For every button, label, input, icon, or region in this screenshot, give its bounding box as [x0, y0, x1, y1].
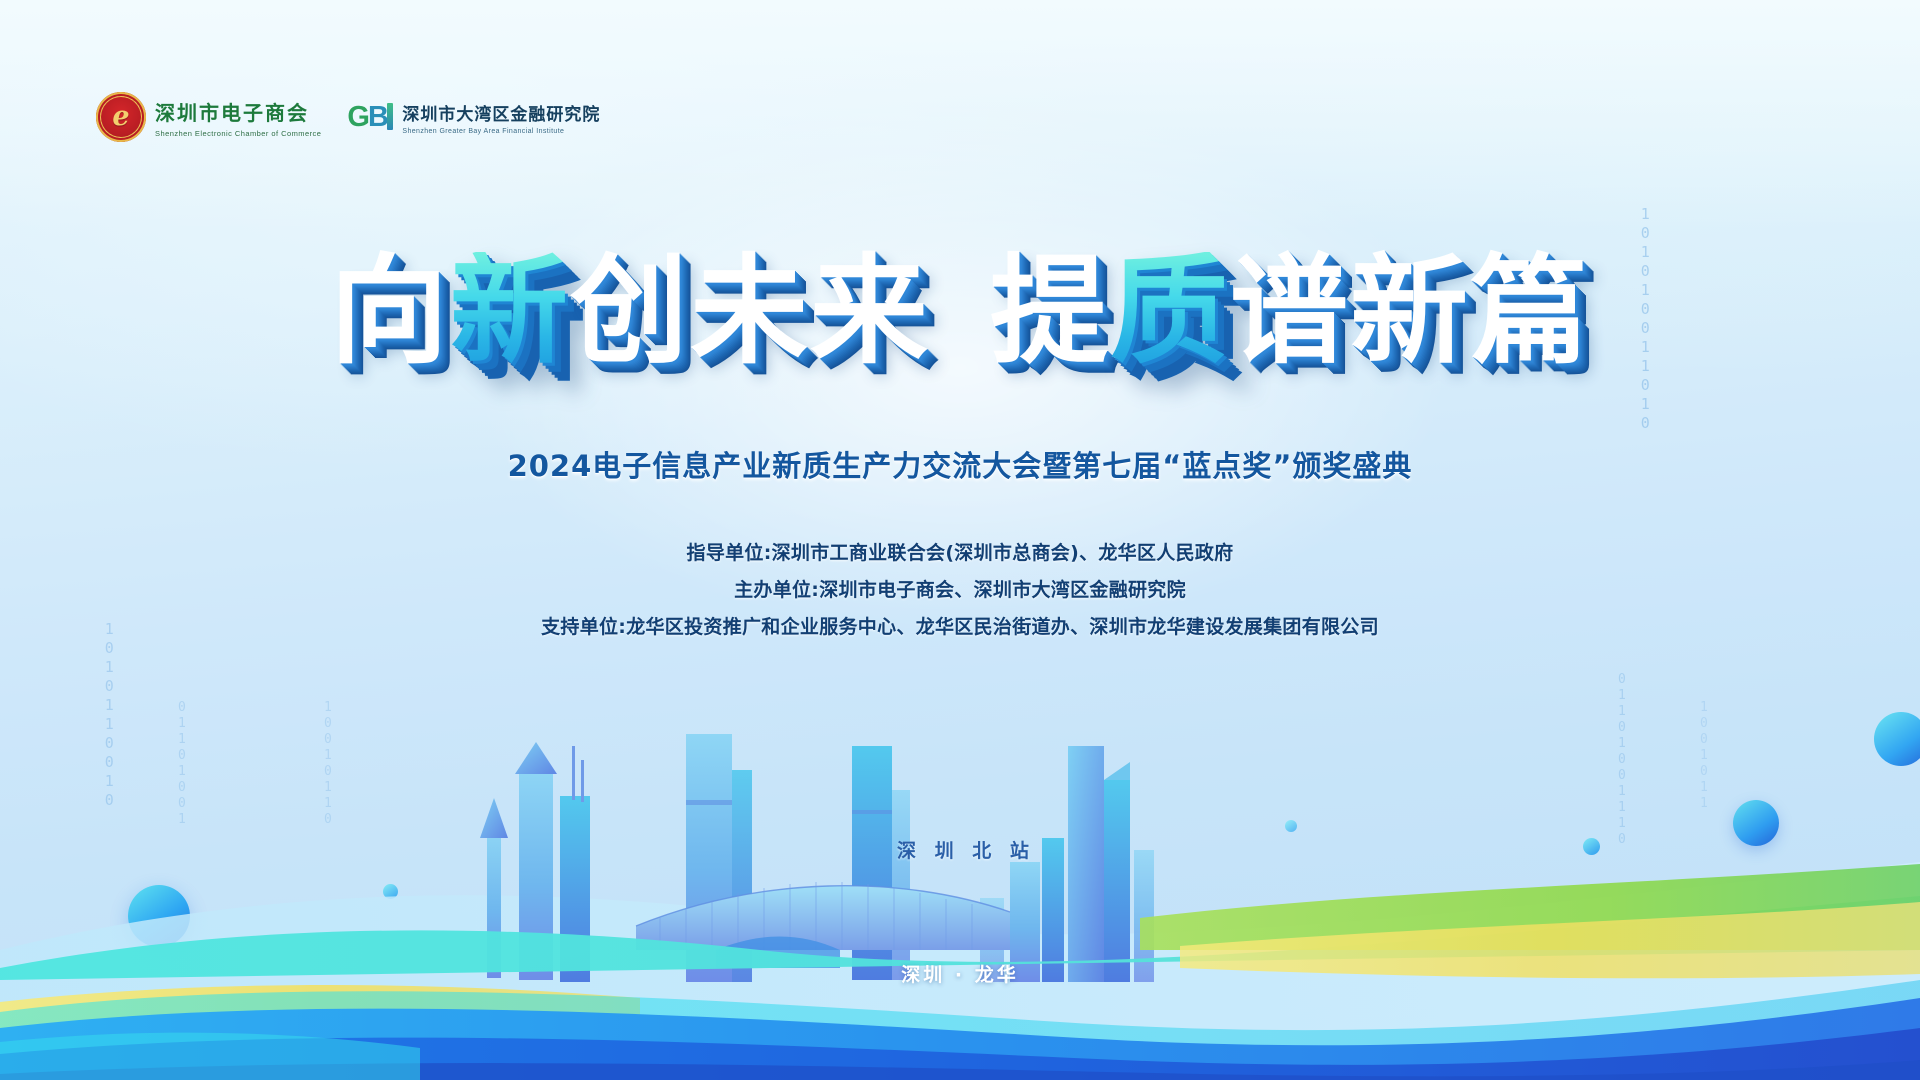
chamber-logo-text: 深圳市电子商会 Shenzhen Electronic Chamber of C…	[155, 97, 321, 138]
gbi-bar	[387, 103, 393, 130]
headline-char: 未	[690, 252, 810, 370]
organizer-line-guidance: 指导单位:深圳市工商业联合会(深圳市总商会)、龙华区人民政府	[0, 535, 1920, 572]
skyline-scene	[0, 650, 1920, 1080]
gbi-logo-text: 深圳市大湾区金融研究院 Shenzhen Greater Bay Area Fi…	[402, 100, 600, 135]
logo-gbi-financial-institute: G B 深圳市大湾区金融研究院 Shenzhen Greater Bay Are…	[347, 100, 600, 135]
organizer-line-host: 主办单位:深圳市电子商会、深圳市大湾区金融研究院	[0, 572, 1920, 609]
gbi-name-en: Shenzhen Greater Bay Area Financial Inst…	[402, 128, 600, 135]
event-subtitle: 2024电子信息产业新质生产力交流大会暨第七届“蓝点奖”颁奖盛典	[0, 443, 1920, 485]
headline-char: 谱	[1230, 252, 1350, 370]
chamber-name-en: Shenzhen Electronic Chamber of Commerce	[155, 129, 321, 138]
chamber-seal-icon: e	[96, 92, 146, 142]
headline-char: 篇	[1470, 252, 1590, 370]
chamber-name-cn: 深圳市电子商会	[155, 97, 321, 126]
headline-char: 新	[1350, 252, 1470, 370]
headline-char: 来	[810, 252, 930, 370]
logo-shenzhen-electronic-chamber: e 深圳市电子商会 Shenzhen Electronic Chamber of…	[96, 92, 321, 142]
headline-char-accent: 新	[450, 252, 570, 370]
logo-bar: e 深圳市电子商会 Shenzhen Electronic Chamber of…	[96, 92, 600, 142]
gbi-letter-g: G	[347, 103, 368, 132]
gbi-name-cn: 深圳市大湾区金融研究院	[402, 100, 600, 125]
organizer-line-support: 支持单位:龙华区投资推广和企业服务中心、龙华区民治街道办、深圳市龙华建设发展集团…	[0, 609, 1920, 646]
footer-location-label: 深圳 · 龙华	[0, 960, 1920, 987]
skyline-svg	[0, 650, 1920, 1080]
gbi-letter-b: B	[368, 103, 388, 132]
headline-char: 创	[570, 252, 690, 370]
organizer-block: 指导单位:深圳市工商业联合会(深圳市总商会)、龙华区人民政府 主办单位:深圳市电…	[0, 535, 1920, 646]
event-banner: 1010110010 01101001 10010110 10101001101…	[0, 0, 1920, 1080]
seal-letter: e	[96, 101, 146, 132]
headline-char: 向	[330, 252, 450, 370]
headline-char: 提	[990, 252, 1110, 370]
station-label: 深 圳 北 站	[897, 836, 1035, 863]
headline-char-accent: 质	[1110, 252, 1230, 370]
headline: 向新创未来提质谱新篇	[0, 252, 1920, 370]
gbi-mark-icon: G B	[347, 102, 393, 132]
